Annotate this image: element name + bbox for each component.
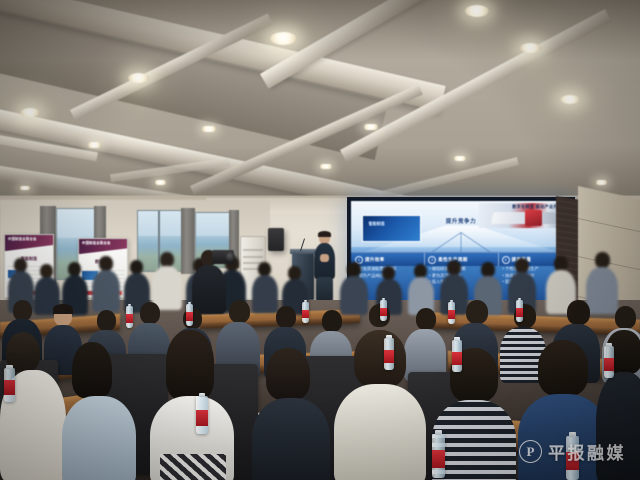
ceiling-downlight <box>20 108 40 117</box>
water-bottle <box>384 338 394 370</box>
audience-member <box>334 330 426 480</box>
slide-section-number: 2 <box>428 256 436 264</box>
conference-room-photograph: 中国制造业联合会 智能制造 中国制造业联合会 数字转型 智能制造 数字化转型 驱… <box>0 0 640 480</box>
ceiling-downlight <box>155 180 166 185</box>
ceiling-downlight <box>88 142 101 148</box>
water-bottle <box>302 302 309 323</box>
slide-thumbnail-caption: 智能制造 <box>369 221 385 227</box>
banner-header: 中国制造业联合会 <box>5 235 53 251</box>
slide-banner-caption: 数字化转型 驱动产业升级 <box>512 204 562 210</box>
banner-header-label: 中国制造业联合会 <box>82 240 111 245</box>
ceiling-downlight <box>128 73 149 83</box>
ceiling-downlight <box>560 95 580 104</box>
ceiling-downlight <box>202 126 216 132</box>
audience-member <box>92 256 120 312</box>
water-bottle <box>380 300 387 321</box>
audience-member <box>62 342 136 480</box>
presenter-hair <box>318 231 331 237</box>
audience-member <box>0 330 66 480</box>
water-bottle <box>126 306 133 328</box>
slide-title: 提升竞争力 <box>446 217 477 225</box>
ceiling-downlight <box>520 43 541 53</box>
water-bottle <box>448 302 455 324</box>
audience-member <box>596 330 640 480</box>
presenter <box>312 232 338 302</box>
wall-speaker <box>268 228 284 251</box>
audience-member <box>408 264 434 314</box>
audience-member <box>252 348 330 480</box>
coffered-ceiling <box>0 0 640 205</box>
water-bottle <box>186 304 193 326</box>
ceiling-downlight <box>270 32 297 45</box>
water-bottle <box>432 434 445 478</box>
ceiling-downlight <box>454 156 466 161</box>
ceiling-downlight <box>320 164 332 169</box>
audience-member <box>518 340 608 480</box>
water-bottle <box>516 300 523 322</box>
video-camera <box>212 250 234 264</box>
water-bottle <box>452 340 462 372</box>
water-bottle <box>604 346 614 378</box>
audience-member <box>150 330 234 480</box>
ceiling-downlight <box>465 5 489 17</box>
ceiling-downlight <box>20 186 30 190</box>
slide-vehicle-accent <box>525 210 543 226</box>
banner-header-label: 中国制造业联合会 <box>8 236 37 241</box>
ceiling-downlight <box>596 180 607 185</box>
slide-thumbnail-image <box>362 215 421 241</box>
banner-header: 中国制造业联合会 <box>79 239 127 254</box>
presenter-hands <box>320 254 329 262</box>
ceiling-downlight <box>364 124 378 130</box>
water-bottle <box>4 368 15 402</box>
water-bottle <box>566 436 579 480</box>
water-bottle <box>196 396 208 434</box>
